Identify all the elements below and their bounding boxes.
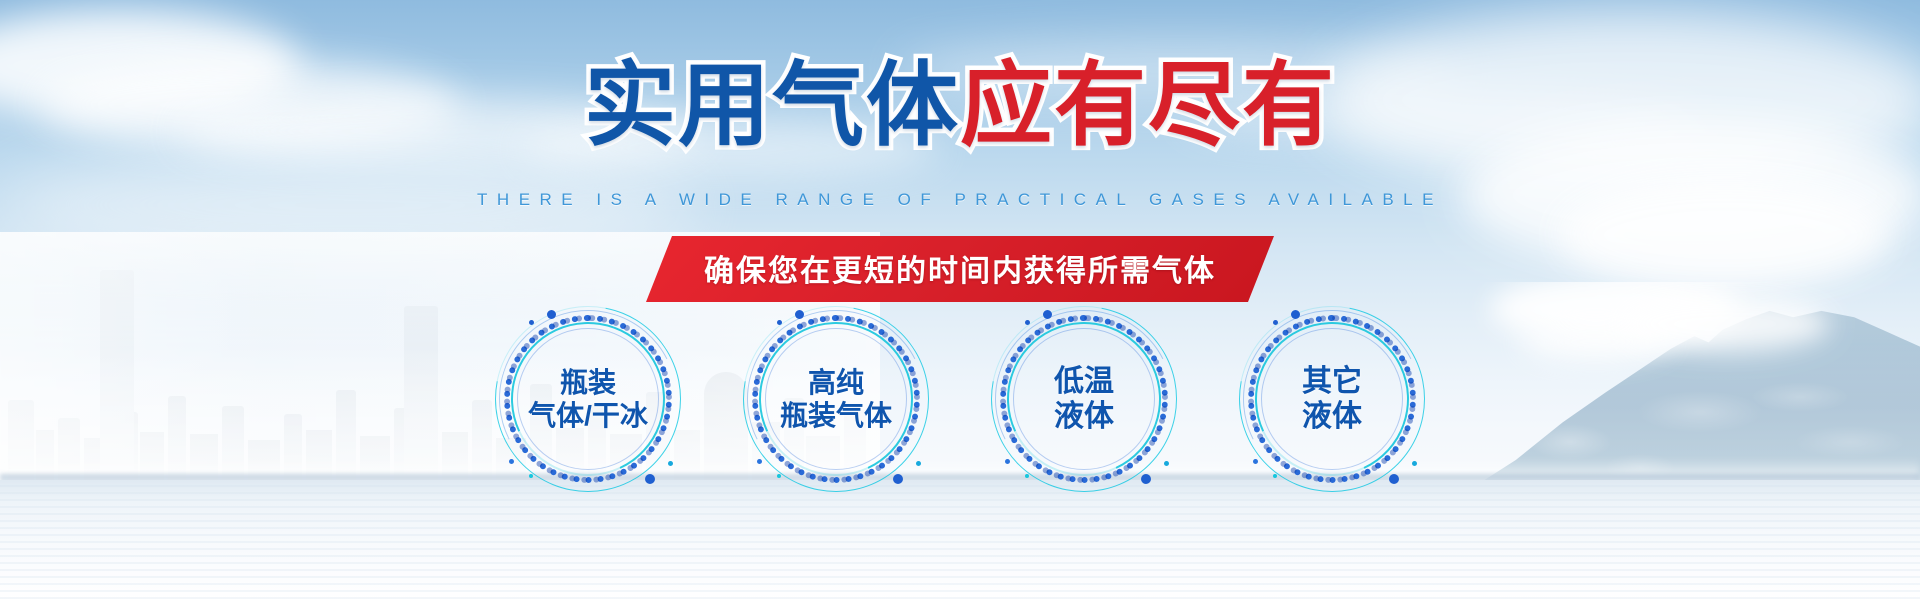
category-circle-other-liquid[interactable]: 其它 液体 — [1239, 306, 1425, 492]
category-label-line1: 低温 — [1054, 364, 1114, 399]
category-label-line1: 瓶装 — [560, 366, 616, 399]
category-label-line1: 其它 — [1302, 364, 1362, 399]
category-label-line2: 液体 — [1302, 399, 1362, 434]
category-label-line2: 液体 — [1054, 399, 1114, 434]
category-label-line1: 高纯 — [808, 366, 864, 399]
ribbon-container: 确保您在更短的时间内获得所需气体 — [0, 236, 1920, 302]
water-surface — [0, 480, 1920, 600]
category-label: 高纯 瓶装气体 — [743, 306, 929, 492]
category-circle-high-purity-bottled-gas[interactable]: 高纯 瓶装气体 — [743, 306, 929, 492]
category-label: 低温 液体 — [991, 306, 1177, 492]
tagline-ribbon: 确保您在更短的时间内获得所需气体 — [646, 236, 1274, 302]
banner-stage: 实用气体应有尽有 THERE IS A WIDE RANGE OF PRACTI… — [0, 0, 1920, 600]
category-circle-list: 瓶装 气体/干冰 高纯 瓶装气体 — [0, 306, 1920, 492]
headline-primary: 实用气体 — [584, 55, 960, 157]
category-label-line2: 瓶装气体 — [780, 399, 892, 432]
category-circle-cryogenic-liquid[interactable]: 低温 液体 — [991, 306, 1177, 492]
category-label: 瓶装 气体/干冰 — [495, 306, 681, 492]
headline-accent: 应有尽有 — [960, 55, 1336, 157]
subtitle-english: THERE IS A WIDE RANGE OF PRACTICAL GASES… — [0, 190, 1920, 210]
category-label-line2: 气体/干冰 — [528, 399, 648, 432]
water-ripples — [0, 480, 1920, 600]
page-title: 实用气体应有尽有 — [0, 60, 1920, 152]
category-label: 其它 液体 — [1239, 306, 1425, 492]
category-circle-bottled-gas[interactable]: 瓶装 气体/干冰 — [495, 306, 681, 492]
